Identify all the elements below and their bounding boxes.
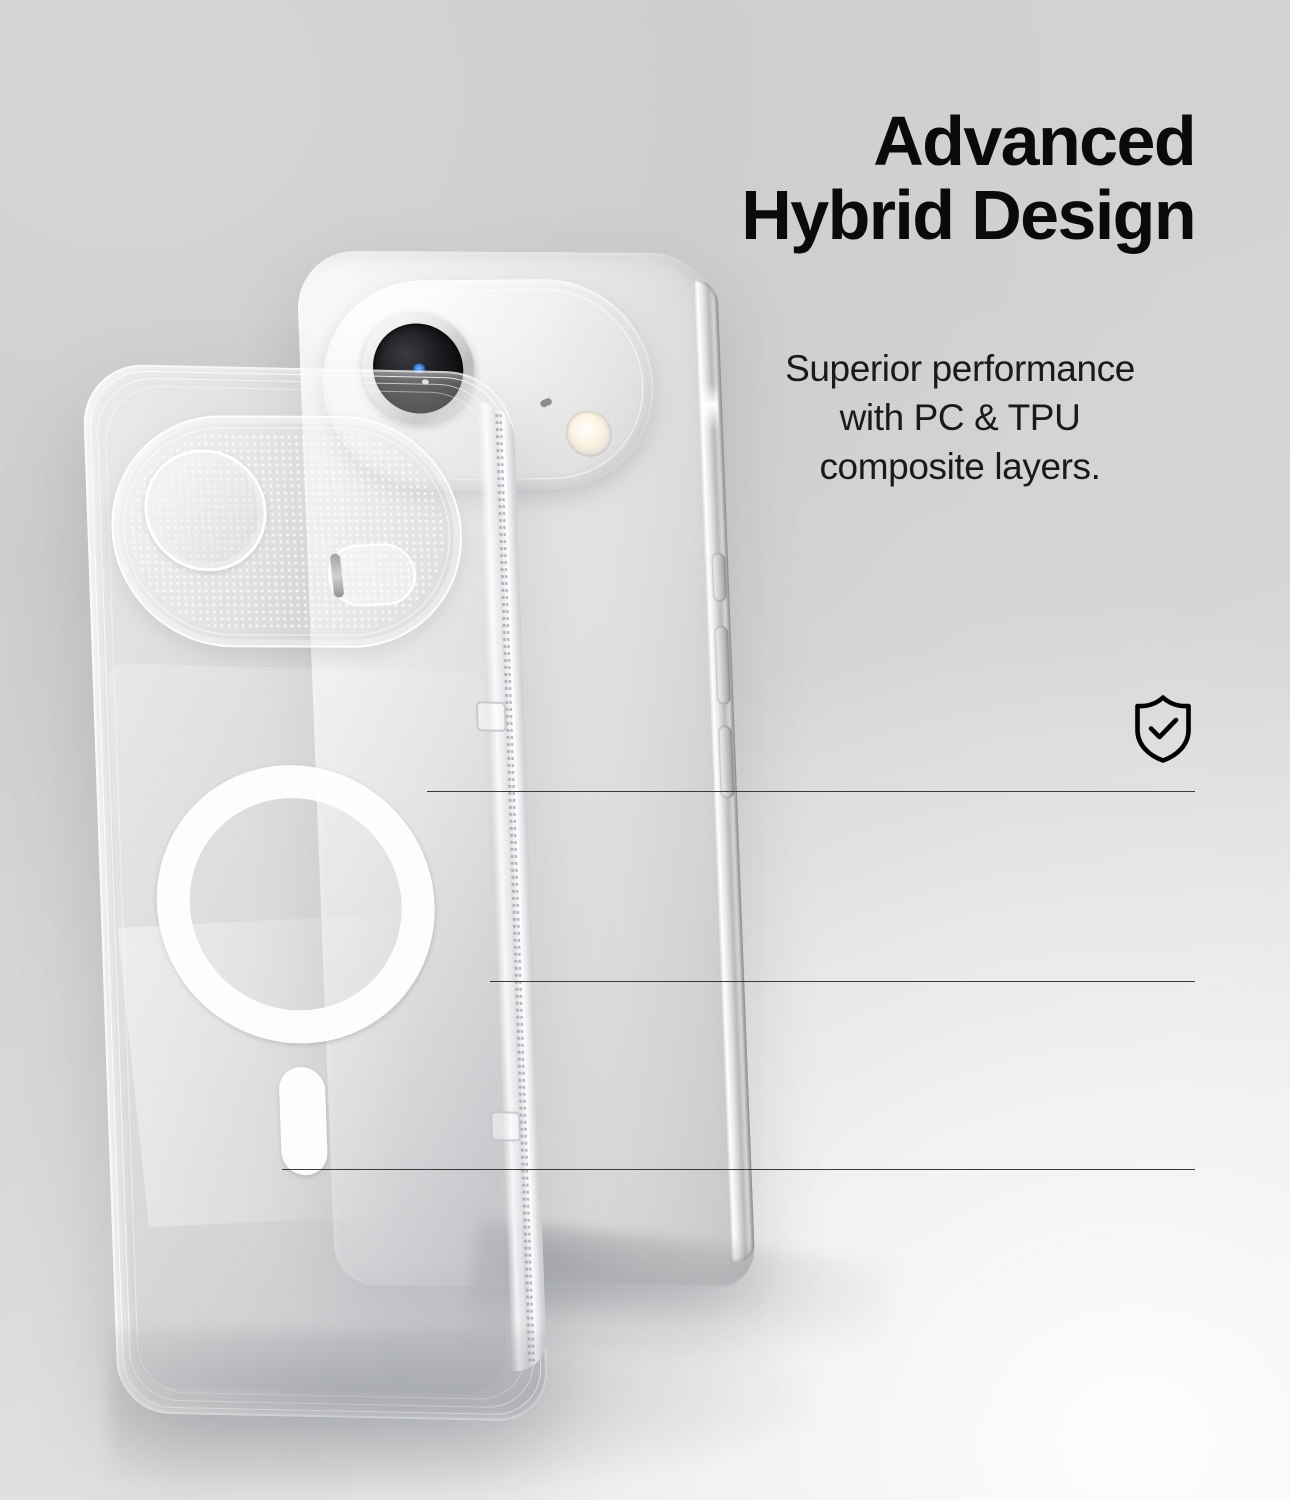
leader-line-flexible-tpu (490, 981, 1195, 982)
mute-button (712, 553, 727, 601)
title-line-1: Advanced (555, 104, 1195, 178)
microphone-icon (539, 397, 553, 408)
camera-flash (565, 410, 614, 456)
title-line-2: Hybrid Design (555, 178, 1195, 252)
page-title: Advanced Hybrid Design (555, 104, 1195, 252)
subtitle-line-3: composite layers. (725, 442, 1195, 491)
case-ground-shadow (110, 1330, 810, 1490)
page-subtitle: Superior performance with PC & TPU compo… (725, 344, 1195, 492)
case-flash-hole (325, 542, 419, 608)
case-texture-dots (124, 433, 448, 630)
rail-highlight (701, 383, 719, 431)
case-button-cover-bottom (490, 1111, 521, 1142)
case-button-cover-top (476, 701, 507, 732)
subtitle-line-2: with PC & TPU (725, 393, 1195, 442)
subtitle-line-1: Superior performance (725, 344, 1195, 393)
volume-down-button (718, 726, 734, 798)
magnet-alignment-indicator (278, 1067, 328, 1176)
case-camera-cutout (106, 415, 468, 648)
shield-check-icon (1132, 694, 1194, 764)
leader-line-hard-pc (427, 791, 1195, 792)
case-lens-hole (141, 449, 269, 571)
product-feature-graphic: Advanced Hybrid Design Superior performa… (0, 0, 1290, 1500)
clear-phone-case (82, 363, 549, 1421)
leader-line-neodymium-magnet (282, 1169, 1195, 1170)
